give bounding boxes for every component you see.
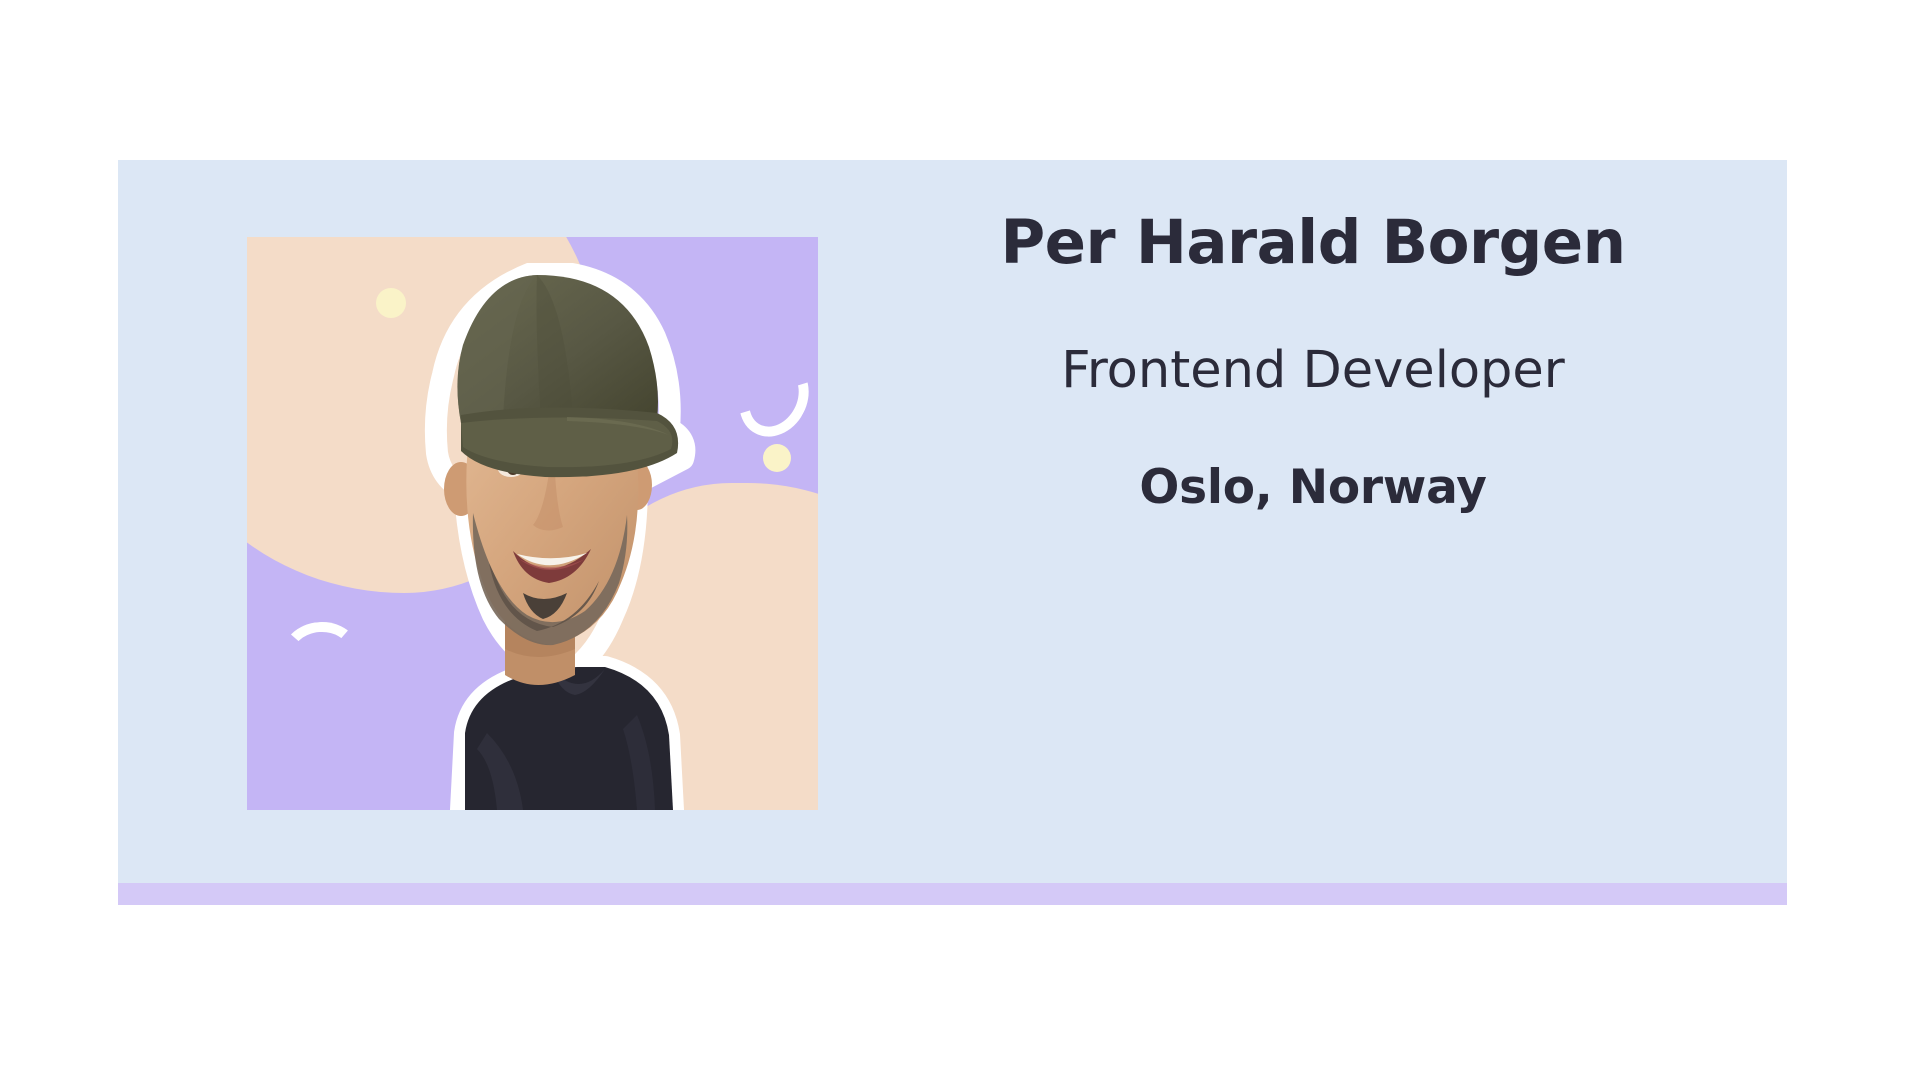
decorative-dot-yellow-right xyxy=(763,444,791,472)
portrait-photo xyxy=(337,263,737,810)
profile-card: Per Harald Borgen Frontend Developer Osl… xyxy=(118,160,1787,905)
page-root: Per Harald Borgen Frontend Developer Osl… xyxy=(0,0,1920,1080)
portrait-torso xyxy=(465,667,673,810)
person-location: Oslo, Norway xyxy=(878,462,1748,514)
person-role: Frontend Developer xyxy=(878,343,1748,399)
decorative-arc-right xyxy=(726,347,818,449)
avatar xyxy=(247,237,818,810)
profile-details: Per Harald Borgen Frontend Developer Osl… xyxy=(878,210,1748,514)
person-name: Per Harald Borgen xyxy=(878,210,1748,276)
card-accent-bar xyxy=(118,883,1787,905)
